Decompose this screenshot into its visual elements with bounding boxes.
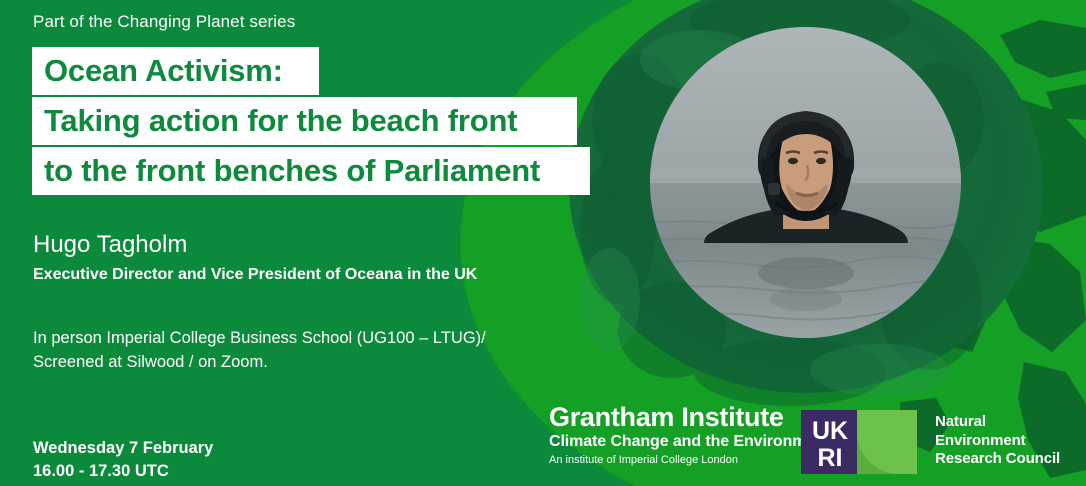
event-poster: Part of the Changing Planet series Ocean… <box>0 0 1086 486</box>
grantham-name: Grantham Institute <box>549 404 830 432</box>
ukri-mark-bottom: RI <box>818 444 843 472</box>
event-datetime: Wednesday 7 February 16.00 - 17.30 UTC <box>33 437 213 484</box>
ukri-mark-top: UK <box>812 417 848 445</box>
nerc-green-square <box>857 410 917 474</box>
ukri-logo-icon: UK RI <box>801 410 921 474</box>
venue-details: In person Imperial College Business Scho… <box>33 327 486 375</box>
grantham-tagline: Climate Change and the Environment <box>549 433 830 451</box>
speaker-role: Executive Director and Vice President of… <box>33 266 477 284</box>
speaker-photo-illustration <box>650 27 961 338</box>
series-eyebrow: Part of the Changing Planet series <box>33 12 295 32</box>
title-line-1: Ocean Activism: <box>32 47 319 95</box>
page-title: Ocean Activism: Taking action for the be… <box>32 47 590 197</box>
grantham-institute-logo: Grantham Institute Climate Change and th… <box>549 404 830 467</box>
nerc-logo: UK RI Natural Environment Research Counc… <box>801 410 1060 474</box>
title-line-3: to the front benches of Parliament <box>32 147 590 195</box>
title-line-2: Taking action for the beach front <box>32 97 577 145</box>
ukri-mark: UK RI <box>801 410 921 474</box>
speaker-photo <box>650 27 961 338</box>
speaker-name: Hugo Tagholm <box>33 231 187 259</box>
grantham-parent: An institute of Imperial College London <box>549 454 830 466</box>
nerc-partner-name: Natural Environment Research Council <box>935 410 1060 469</box>
